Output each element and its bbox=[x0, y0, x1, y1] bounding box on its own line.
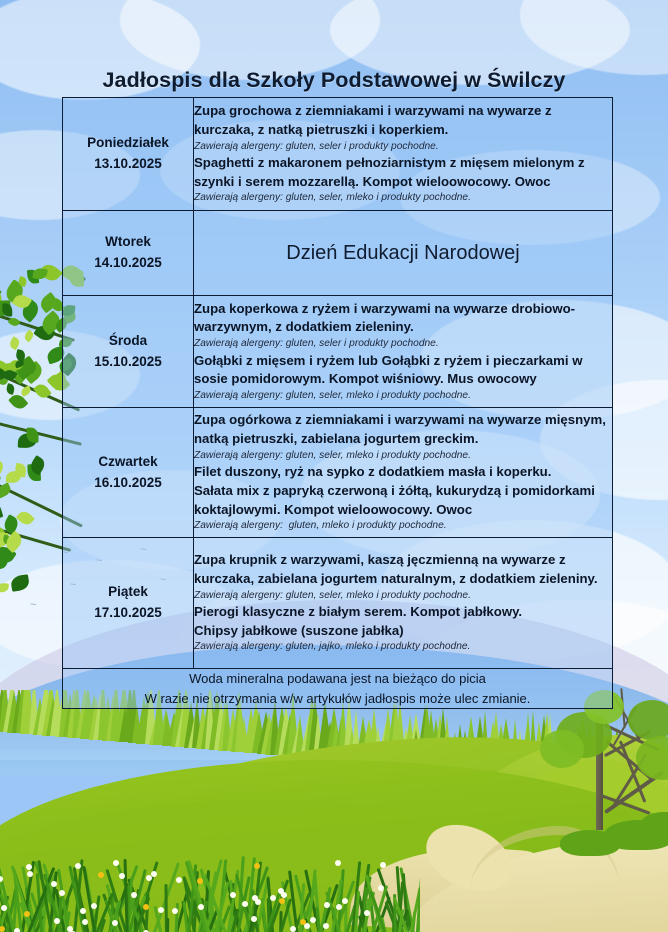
leaf bbox=[16, 509, 35, 528]
day-date: 13.10.2025 bbox=[63, 154, 193, 175]
meal-cell: Zupa koperkowa z ryżem i warzywami na wy… bbox=[194, 296, 613, 408]
wildflower bbox=[278, 888, 284, 894]
wildflower bbox=[26, 864, 32, 870]
allergen-text: Zawierają alergeny: gluten, seler, mleko… bbox=[194, 191, 612, 204]
day-date: 14.10.2025 bbox=[63, 253, 193, 274]
meal-cell: Zupa krupnik z warzywami, kaszą jęczmien… bbox=[194, 538, 613, 669]
wildflower bbox=[54, 918, 60, 924]
page-title: Jadłospis dla Szkoły Podstawowej w Świlc… bbox=[0, 68, 668, 93]
day-name: Piątek bbox=[63, 582, 193, 603]
wildflower bbox=[336, 904, 342, 910]
grass-blade bbox=[166, 918, 169, 932]
bush bbox=[560, 830, 620, 856]
wildflower bbox=[323, 923, 329, 929]
wildflower bbox=[158, 907, 164, 913]
wildflower bbox=[1, 905, 7, 911]
leaf bbox=[8, 337, 21, 351]
wildflower bbox=[27, 871, 33, 877]
wildflower bbox=[91, 903, 97, 909]
dish-text: Zupa ogórkowa z ziemniakami i warzywami … bbox=[194, 411, 612, 448]
holiday-cell: Dzień Edukacji Narodowej bbox=[194, 211, 613, 296]
wildflower bbox=[300, 919, 306, 925]
menu-row: Piątek17.10.2025Zupa krupnik z warzywami… bbox=[63, 538, 613, 669]
wildflower bbox=[172, 908, 178, 914]
menu-row: Poniedziałek13.10.2025Zupa grochowa z zi… bbox=[63, 98, 613, 211]
day-cell: Poniedziałek13.10.2025 bbox=[63, 98, 194, 211]
wildflower bbox=[380, 862, 386, 868]
day-date: 17.10.2025 bbox=[63, 603, 193, 624]
allergen-text: Zawierają alergeny: gluten, seler, mleko… bbox=[194, 389, 612, 402]
menu-row: Czwartek16.10.2025Zupa ogórkowa z ziemni… bbox=[63, 408, 613, 538]
leaf bbox=[0, 458, 6, 476]
day-cell: Wtorek14.10.2025 bbox=[63, 211, 194, 296]
wildflower bbox=[176, 877, 182, 883]
dish-text: Zupa koperkowa z ryżem i warzywami na wy… bbox=[194, 300, 612, 337]
dish-text: Zupa krupnik z warzywami, kaszą jęczmien… bbox=[194, 551, 612, 588]
wildflower bbox=[151, 871, 157, 877]
leaf bbox=[0, 583, 8, 593]
dish-text: Chipsy jabłkowe (suszone jabłka) bbox=[194, 622, 612, 641]
dish-text: Zupa grochowa z ziemniakami i warzywami … bbox=[194, 102, 612, 139]
allergen-text: Zawierają alergeny: gluten, seler, mleko… bbox=[194, 449, 612, 462]
wildflower bbox=[364, 910, 370, 916]
dish-text: Spaghetti z makaronem pełnoziarnistym z … bbox=[194, 154, 612, 191]
day-date: 15.10.2025 bbox=[63, 352, 193, 373]
leaf bbox=[8, 316, 21, 329]
wildflower bbox=[112, 920, 118, 926]
day-cell: Środa15.10.2025 bbox=[63, 296, 194, 408]
footer-cell: Woda mineralna podawana jest na bieżąco … bbox=[63, 669, 613, 709]
wildflower bbox=[290, 926, 296, 932]
day-cell: Czwartek16.10.2025 bbox=[63, 408, 194, 538]
meal-cell: Zupa ogórkowa z ziemniakami i warzywami … bbox=[194, 408, 613, 538]
wildflower bbox=[113, 860, 119, 866]
wildflower bbox=[310, 917, 316, 923]
leaf bbox=[10, 575, 30, 592]
wildflower bbox=[131, 892, 137, 898]
page-canvas: ~~~~~~~ Jadłospis dla Szkoły Podstawowej… bbox=[0, 0, 668, 932]
wildflower bbox=[335, 860, 341, 866]
wildflower bbox=[14, 928, 20, 932]
footer-row: Woda mineralna podawana jest na bieżąco … bbox=[63, 669, 613, 709]
wildflower bbox=[75, 863, 81, 869]
wildflower-grass bbox=[0, 848, 420, 932]
day-cell: Piątek17.10.2025 bbox=[63, 538, 194, 669]
allergen-text: Zawierają alergeny: gluten, seler i prod… bbox=[194, 140, 612, 153]
wildflower bbox=[80, 908, 86, 914]
allergen-text: Zawierają alergeny: gluten, seler, mleko… bbox=[194, 589, 612, 602]
leaf bbox=[2, 303, 12, 316]
dish-text: Sałata mix z papryką czerwoną i żółtą, k… bbox=[194, 482, 612, 519]
leaf bbox=[6, 471, 22, 484]
menu-table: Poniedziałek13.10.2025Zupa grochowa z zi… bbox=[62, 97, 613, 709]
allergen-text: Zawierają alergeny: gluten, mleko i prod… bbox=[194, 519, 612, 532]
wildflower bbox=[251, 916, 257, 922]
allergen-text: Zawierają alergeny: gluten, seler i prod… bbox=[194, 337, 612, 350]
day-name: Wtorek bbox=[63, 232, 193, 253]
wildflower bbox=[230, 892, 236, 898]
dish-text: Pierogi klasyczne z białym serem. Kompot… bbox=[194, 603, 612, 622]
dish-text: Filet duszony, ryż na sypko z dodatkiem … bbox=[194, 463, 612, 482]
tree-foliage bbox=[628, 700, 668, 740]
leaf bbox=[0, 499, 3, 520]
menu-row: Wtorek14.10.2025Dzień Edukacji Narodowej bbox=[63, 211, 613, 296]
footer-line: W razie nie otrzymania w/w artykułów jad… bbox=[63, 689, 612, 709]
day-date: 16.10.2025 bbox=[63, 473, 193, 494]
meal-cell: Zupa grochowa z ziemniakami i warzywami … bbox=[194, 98, 613, 211]
dish-text: Gołąbki z mięsem i ryżem lub Gołąbki z r… bbox=[194, 352, 612, 389]
wildflower bbox=[279, 898, 285, 904]
wildflower bbox=[51, 881, 57, 887]
day-name: Czwartek bbox=[63, 452, 193, 473]
wildflower bbox=[242, 901, 248, 907]
wildflower bbox=[24, 911, 30, 917]
wildflower bbox=[98, 872, 104, 878]
allergen-text: Zawierają alergeny: gluten, jajko, mleko… bbox=[194, 640, 612, 653]
menu-row: Środa15.10.2025Zupa koperkowa z ryżem i … bbox=[63, 296, 613, 408]
footer-line: Woda mineralna podawana jest na bieżąco … bbox=[63, 669, 612, 689]
wildflower bbox=[324, 902, 330, 908]
day-name: Środa bbox=[63, 331, 193, 352]
leaf bbox=[27, 428, 39, 443]
day-name: Poniedziałek bbox=[63, 133, 193, 154]
tree-foliage bbox=[540, 730, 584, 768]
wildflower bbox=[342, 898, 348, 904]
